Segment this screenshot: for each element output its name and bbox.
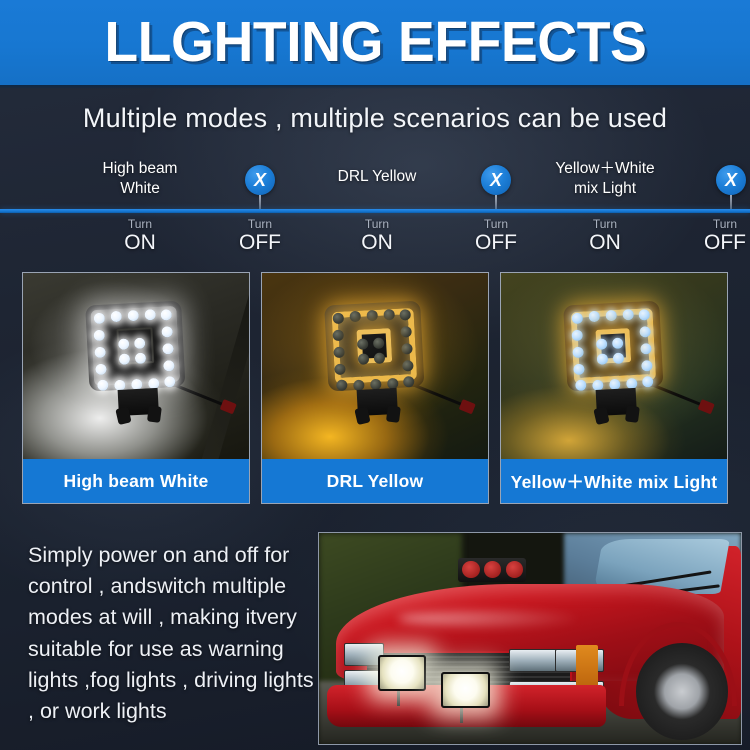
x-badge-3[interactable]: X bbox=[716, 165, 746, 195]
mode-label-yellow-white-mix: Yellow＋White mix Light bbox=[555, 159, 654, 199]
truck-application-photo bbox=[318, 532, 742, 745]
mounted-work-light-1 bbox=[378, 655, 426, 691]
mode-label-high-beam-white: High beam White bbox=[103, 159, 178, 199]
x-badge-1[interactable]: X bbox=[245, 165, 275, 195]
truck-wheel bbox=[636, 643, 729, 740]
product-panels: High beam White bbox=[22, 272, 728, 504]
x-icon: X bbox=[490, 171, 502, 189]
led-lamp-yellow bbox=[324, 300, 426, 417]
panel-photo-yellow bbox=[262, 273, 488, 459]
lamp-housing bbox=[85, 300, 185, 391]
infographic-page: LLGHTING EFFECTS Multiple modes , multip… bbox=[0, 0, 750, 750]
lamp-face bbox=[95, 310, 176, 382]
x-icon: X bbox=[725, 171, 737, 189]
background-strap bbox=[191, 273, 249, 459]
toggle-word: Turn bbox=[361, 218, 393, 231]
toggle-3: Turn ON bbox=[361, 218, 393, 255]
panel-photo-white bbox=[23, 273, 249, 459]
toggle-word: Turn bbox=[704, 218, 746, 231]
toggle-state: OFF bbox=[475, 231, 517, 255]
mode-label-line2: White bbox=[103, 179, 178, 199]
mode-label-line2: mix Light bbox=[555, 179, 654, 199]
lamp-face bbox=[334, 310, 415, 382]
mounted-work-light-2 bbox=[441, 672, 489, 708]
toggle-word: Turn bbox=[124, 218, 156, 231]
lamp-bracket bbox=[357, 387, 398, 415]
toggle-state: OFF bbox=[704, 231, 746, 255]
banner-bottom-edge bbox=[0, 85, 750, 89]
lamp-bracket bbox=[596, 387, 637, 415]
toggle-state: ON bbox=[589, 231, 621, 255]
header-banner: LLGHTING EFFECTS bbox=[0, 0, 750, 85]
toggle-word: Turn bbox=[475, 218, 517, 231]
description-paragraph: Simply power on and off for control , an… bbox=[28, 540, 320, 727]
lamp-housing bbox=[563, 300, 663, 391]
page-title: LLGHTING EFFECTS bbox=[104, 14, 646, 71]
panel-high-beam-white[interactable]: High beam White bbox=[22, 272, 250, 504]
toggle-word: Turn bbox=[589, 218, 621, 231]
x-icon: X bbox=[254, 171, 266, 189]
panel-caption-1: High beam White bbox=[23, 459, 249, 503]
subtitle: Multiple modes , multiple scenarios can … bbox=[0, 103, 750, 134]
toggle-4: Turn OFF bbox=[475, 218, 517, 255]
toggle-state: OFF bbox=[239, 231, 281, 255]
hood-reflection bbox=[398, 611, 577, 627]
mode-label-drl-yellow: DRL Yellow bbox=[338, 167, 417, 187]
toggle-1: Turn ON bbox=[124, 218, 156, 255]
panel-photo-mix bbox=[501, 273, 727, 459]
panel-drl-yellow[interactable]: DRL Yellow bbox=[261, 272, 489, 504]
truck-scene bbox=[319, 533, 741, 744]
lamp-housing bbox=[324, 300, 424, 391]
blue-divider-line bbox=[0, 209, 750, 213]
panel-caption-3: Yellow＋White mix Light bbox=[501, 459, 727, 503]
panel-yellow-white-mix[interactable]: Yellow＋White mix Light bbox=[500, 272, 728, 504]
toggle-row: Turn ON Turn OFF Turn ON Turn OFF Turn O… bbox=[0, 216, 750, 260]
headlight-inner-right bbox=[509, 649, 557, 672]
mode-row: High beam White X DRL Yellow X Yellow＋Wh… bbox=[0, 155, 750, 211]
mode-label-line1: High beam bbox=[103, 159, 178, 179]
roof-light-bar bbox=[458, 558, 526, 581]
led-lamp-mix bbox=[563, 300, 665, 417]
toggle-state: ON bbox=[361, 231, 393, 255]
toggle-word: Turn bbox=[239, 218, 281, 231]
lamp-face bbox=[573, 310, 654, 382]
toggle-5: Turn ON bbox=[589, 218, 621, 255]
toggle-state: ON bbox=[124, 231, 156, 255]
x-badge-2[interactable]: X bbox=[481, 165, 511, 195]
toggle-2: Turn OFF bbox=[239, 218, 281, 255]
led-lamp-white bbox=[85, 300, 187, 417]
mode-label-line1: Yellow＋White bbox=[555, 159, 654, 179]
toggle-6: Turn OFF bbox=[704, 218, 746, 255]
lamp-bracket bbox=[118, 387, 159, 415]
mode-label-line1: DRL Yellow bbox=[338, 167, 417, 187]
roof-light-3 bbox=[506, 561, 524, 578]
panel-caption-2: DRL Yellow bbox=[262, 459, 488, 503]
